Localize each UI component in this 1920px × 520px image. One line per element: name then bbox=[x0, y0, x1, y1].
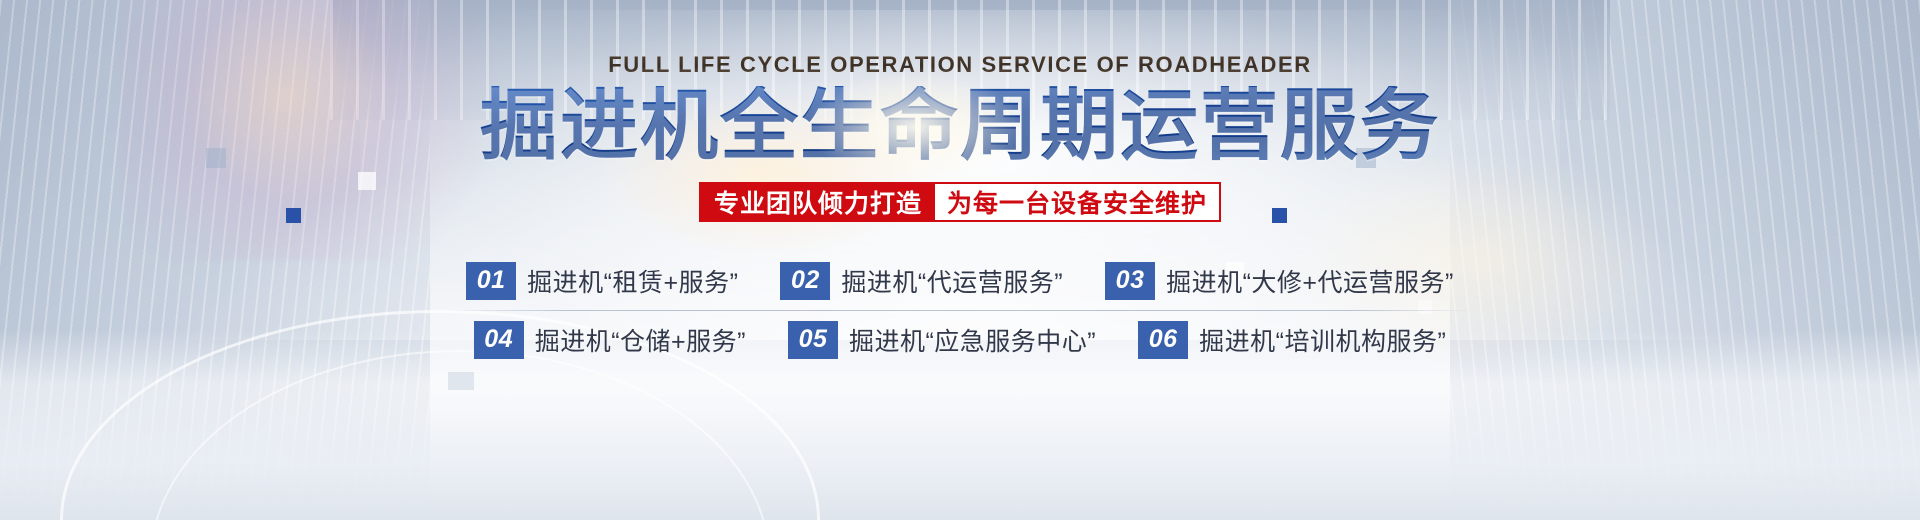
service-item-02[interactable]: 02 掘进机“代运营服务” bbox=[780, 262, 1063, 300]
service-item-03[interactable]: 03 掘进机“大修+代运营服务” bbox=[1105, 262, 1454, 300]
service-number-badge: 06 bbox=[1138, 321, 1188, 359]
service-label: 掘进机“代运营服务” bbox=[841, 263, 1063, 299]
service-item-06[interactable]: 06 掘进机“培训机构服务” bbox=[1138, 321, 1446, 359]
service-label: 掘进机“大修+代运营服务” bbox=[1166, 263, 1454, 299]
service-number-badge: 04 bbox=[474, 321, 524, 359]
service-number-badge: 03 bbox=[1105, 262, 1155, 300]
service-label: 掘进机“仓储+服务” bbox=[535, 322, 746, 358]
service-item-04[interactable]: 04 掘进机“仓储+服务” bbox=[474, 321, 746, 359]
banner-content: FULL LIFE CYCLE OPERATION SERVICE OF ROA… bbox=[0, 0, 1920, 520]
banner-headline-text: 掘进机全生命周期运营服务 bbox=[480, 81, 1440, 169]
service-row-bottom: 04 掘进机“仓储+服务” 05 掘进机“应急服务中心” 06 掘进机“培训机构… bbox=[474, 311, 1447, 369]
banner-headline: 掘进机全生命周期运营服务 bbox=[480, 86, 1440, 166]
service-label: 掘进机“应急服务中心” bbox=[849, 322, 1096, 358]
service-number-badge: 01 bbox=[466, 262, 516, 300]
service-item-05[interactable]: 05 掘进机“应急服务中心” bbox=[788, 321, 1096, 359]
service-number-badge: 02 bbox=[780, 262, 830, 300]
service-row-top: 01 掘进机“租赁+服务” 02 掘进机“代运营服务” 03 掘进机“大修+代运… bbox=[466, 252, 1454, 310]
service-label: 掘进机“租赁+服务” bbox=[527, 263, 738, 299]
roadheader-service-banner: FULL LIFE CYCLE OPERATION SERVICE OF ROA… bbox=[0, 0, 1920, 520]
tagline-primary: 专业团队倾力打造 bbox=[701, 184, 935, 220]
service-number-badge: 05 bbox=[788, 321, 838, 359]
banner-subtitle-english: FULL LIFE CYCLE OPERATION SERVICE OF ROA… bbox=[608, 52, 1311, 78]
banner-tagline-bar: 专业团队倾力打造 为每一台设备安全维护 bbox=[699, 182, 1221, 222]
service-label: 掘进机“培训机构服务” bbox=[1199, 322, 1446, 358]
service-list: 01 掘进机“租赁+服务” 02 掘进机“代运营服务” 03 掘进机“大修+代运… bbox=[360, 252, 1560, 369]
service-item-01[interactable]: 01 掘进机“租赁+服务” bbox=[466, 262, 738, 300]
tagline-secondary: 为每一台设备安全维护 bbox=[935, 184, 1219, 220]
